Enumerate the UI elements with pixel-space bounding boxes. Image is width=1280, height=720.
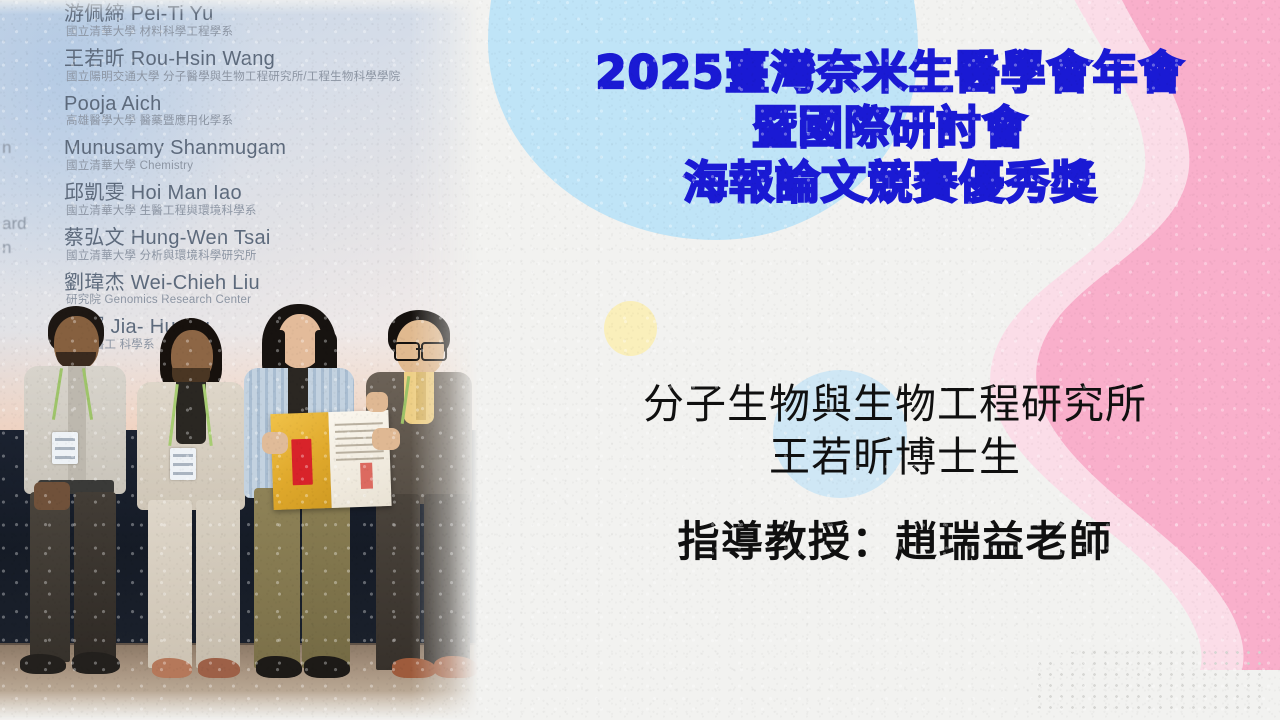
slide-title: 2025臺灣奈米生醫學會年會 暨國際研討會 海報論文競賽優秀獎	[500, 46, 1280, 211]
ceremony-photo: 游佩締 Pei-Ti Yu 國立清華大學 材料科學工程學系 王若昕 Rou-Hs…	[0, 0, 478, 720]
name-badge	[170, 448, 196, 480]
screen-entry-name: 游佩締 Pei-Ti Yu	[64, 4, 478, 25]
screen-entry-affiliation: 國立清華大學 生醫工程與環境科學系	[66, 206, 478, 218]
title-line-2: 暨國際研討會	[500, 101, 1280, 156]
screen-entry-affiliation: 國立陽明交通大學 分子醫學與生物工程研究所/工程生物科學學院	[66, 72, 478, 84]
slide-canvas: 游佩締 Pei-Ti Yu 國立清華大學 材料科學工程學系 王若昕 Rou-Hs…	[0, 0, 1280, 720]
screen-entry-name: 蔡弘文 Hung-Wen Tsai	[64, 228, 478, 249]
hand-left	[262, 432, 288, 454]
folder-red-ribbon	[291, 439, 313, 486]
screen-edge-fragment: ard	[2, 214, 27, 234]
hand-right-upper	[366, 392, 388, 412]
awardee-block: 分子生物與生物工程研究所 王若昕博士生	[510, 378, 1280, 485]
institute-name: 分子生物與生物工程研究所	[510, 378, 1280, 431]
title-line-3: 海報論文競賽優秀獎	[500, 156, 1280, 211]
screen-entry-affiliation: 國立清華大學 材料科學工程學系	[66, 27, 478, 39]
screen-entry-name: 王若昕 Rou-Hsin Wang	[64, 49, 478, 70]
folder-red-seal	[360, 463, 373, 489]
awardee-name: 王若昕博士生	[510, 431, 1280, 484]
screen-entry-name: 邱凱雯 Hoi Man Iao	[64, 183, 478, 204]
screen-edge-fragment: n	[2, 138, 11, 158]
screen-entry-affiliation: 研究院 Genomics Research Center	[66, 295, 478, 307]
screen-entry-affiliation: 國立清華大學 分析與環境科學研究所	[66, 251, 478, 263]
screen-entry-name: Pooja Aich	[64, 94, 478, 115]
advisor-line: 指導教授：趙瑞益老師	[510, 508, 1280, 569]
screen-entry-affiliation: 國立清華大學 Chemistry	[66, 161, 478, 173]
screen-entry-name: 劉瑋杰 Wei-Chieh Liu	[64, 273, 478, 294]
screen-edge-fragment: n	[2, 238, 11, 258]
projection-screen-text: 游佩締 Pei-Ti Yu 國立清華大學 材料科學工程學系 王若昕 Rou-Hs…	[64, 2, 478, 362]
title-line-1: 2025臺灣奈米生醫學會年會	[500, 46, 1280, 101]
screen-entry-name: Munusamy Shanmugam	[64, 138, 478, 159]
yellow-circle-shape	[604, 301, 657, 356]
name-badge	[52, 432, 78, 464]
hand-right	[372, 428, 400, 450]
award-certificate-folder	[270, 410, 391, 510]
screen-entry-affiliation: 高雄醫學大學 醫藥暨應用化學系	[66, 116, 478, 128]
